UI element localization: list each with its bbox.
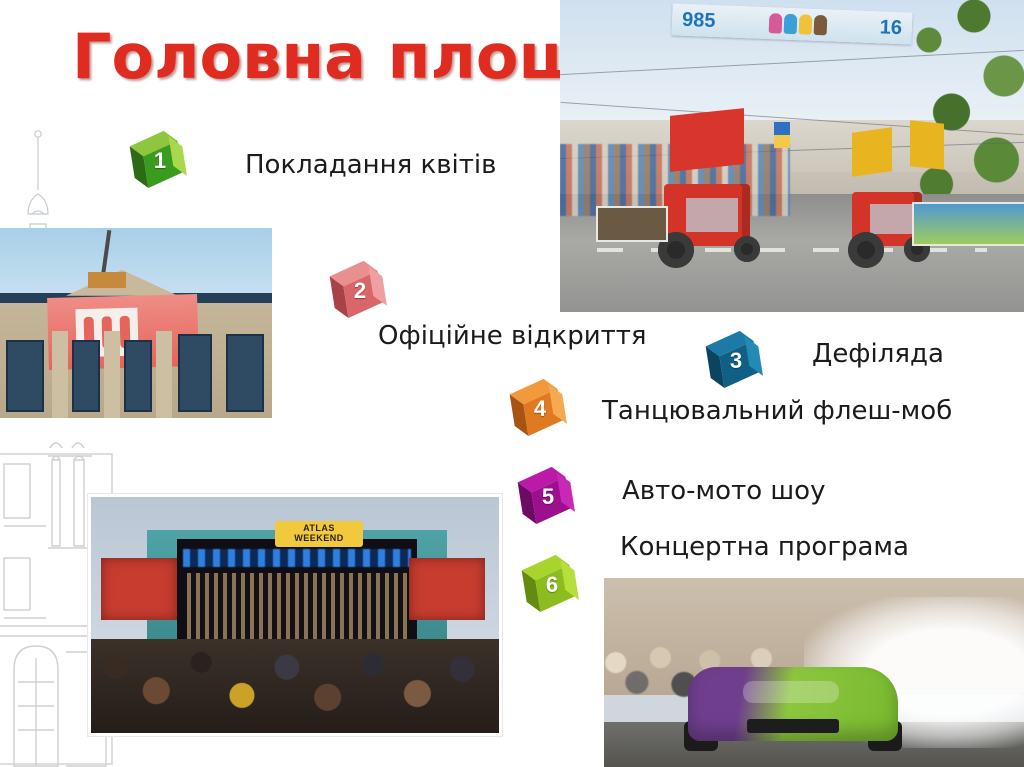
drift-car [688, 667, 898, 741]
cube-icon-3[interactable]: 3 [704, 328, 766, 390]
banner-number-left: 985 [682, 10, 716, 31]
photo-concert-stage: ATLAS WEEKEND [88, 494, 502, 736]
photo-drift-show [604, 578, 1024, 767]
church-spire-line-art-icon [8, 128, 68, 238]
cube-icon-4[interactable]: 4 [508, 376, 570, 438]
slide-title: Головна площа [72, 26, 629, 88]
cube-icon-2[interactable]: 2 [328, 258, 390, 320]
cube-icon-1[interactable]: 1 [128, 128, 190, 190]
cube-icon-6[interactable]: 6 [520, 552, 582, 614]
agenda-label-4: Танцювальний флеш-моб [602, 398, 952, 424]
stage-sign-line2: WEEKEND [294, 534, 344, 543]
photo-building-banner [0, 228, 272, 418]
photo-parade: 985 16 [560, 0, 1024, 312]
stage-screen-left [101, 558, 177, 619]
stage-sign: ATLAS WEEKEND [275, 521, 363, 547]
stage-screen-right [409, 558, 485, 619]
agenda-label-6: Концертна програма [620, 534, 909, 560]
agenda-label-2: Офіційне відкриття [378, 323, 647, 349]
agenda-label-3: Дефіляда [812, 341, 944, 367]
agenda-label-5: Авто-мото шоу [622, 478, 825, 504]
slide-canvas: Головна площа 985 16 [0, 0, 1024, 767]
agenda-label-1: Покладання квітів [245, 152, 496, 178]
building-red-banner [47, 294, 199, 370]
banner-number-right: 16 [879, 17, 902, 38]
cube-icon-5[interactable]: 5 [516, 464, 578, 526]
banner-emblems [768, 13, 827, 35]
